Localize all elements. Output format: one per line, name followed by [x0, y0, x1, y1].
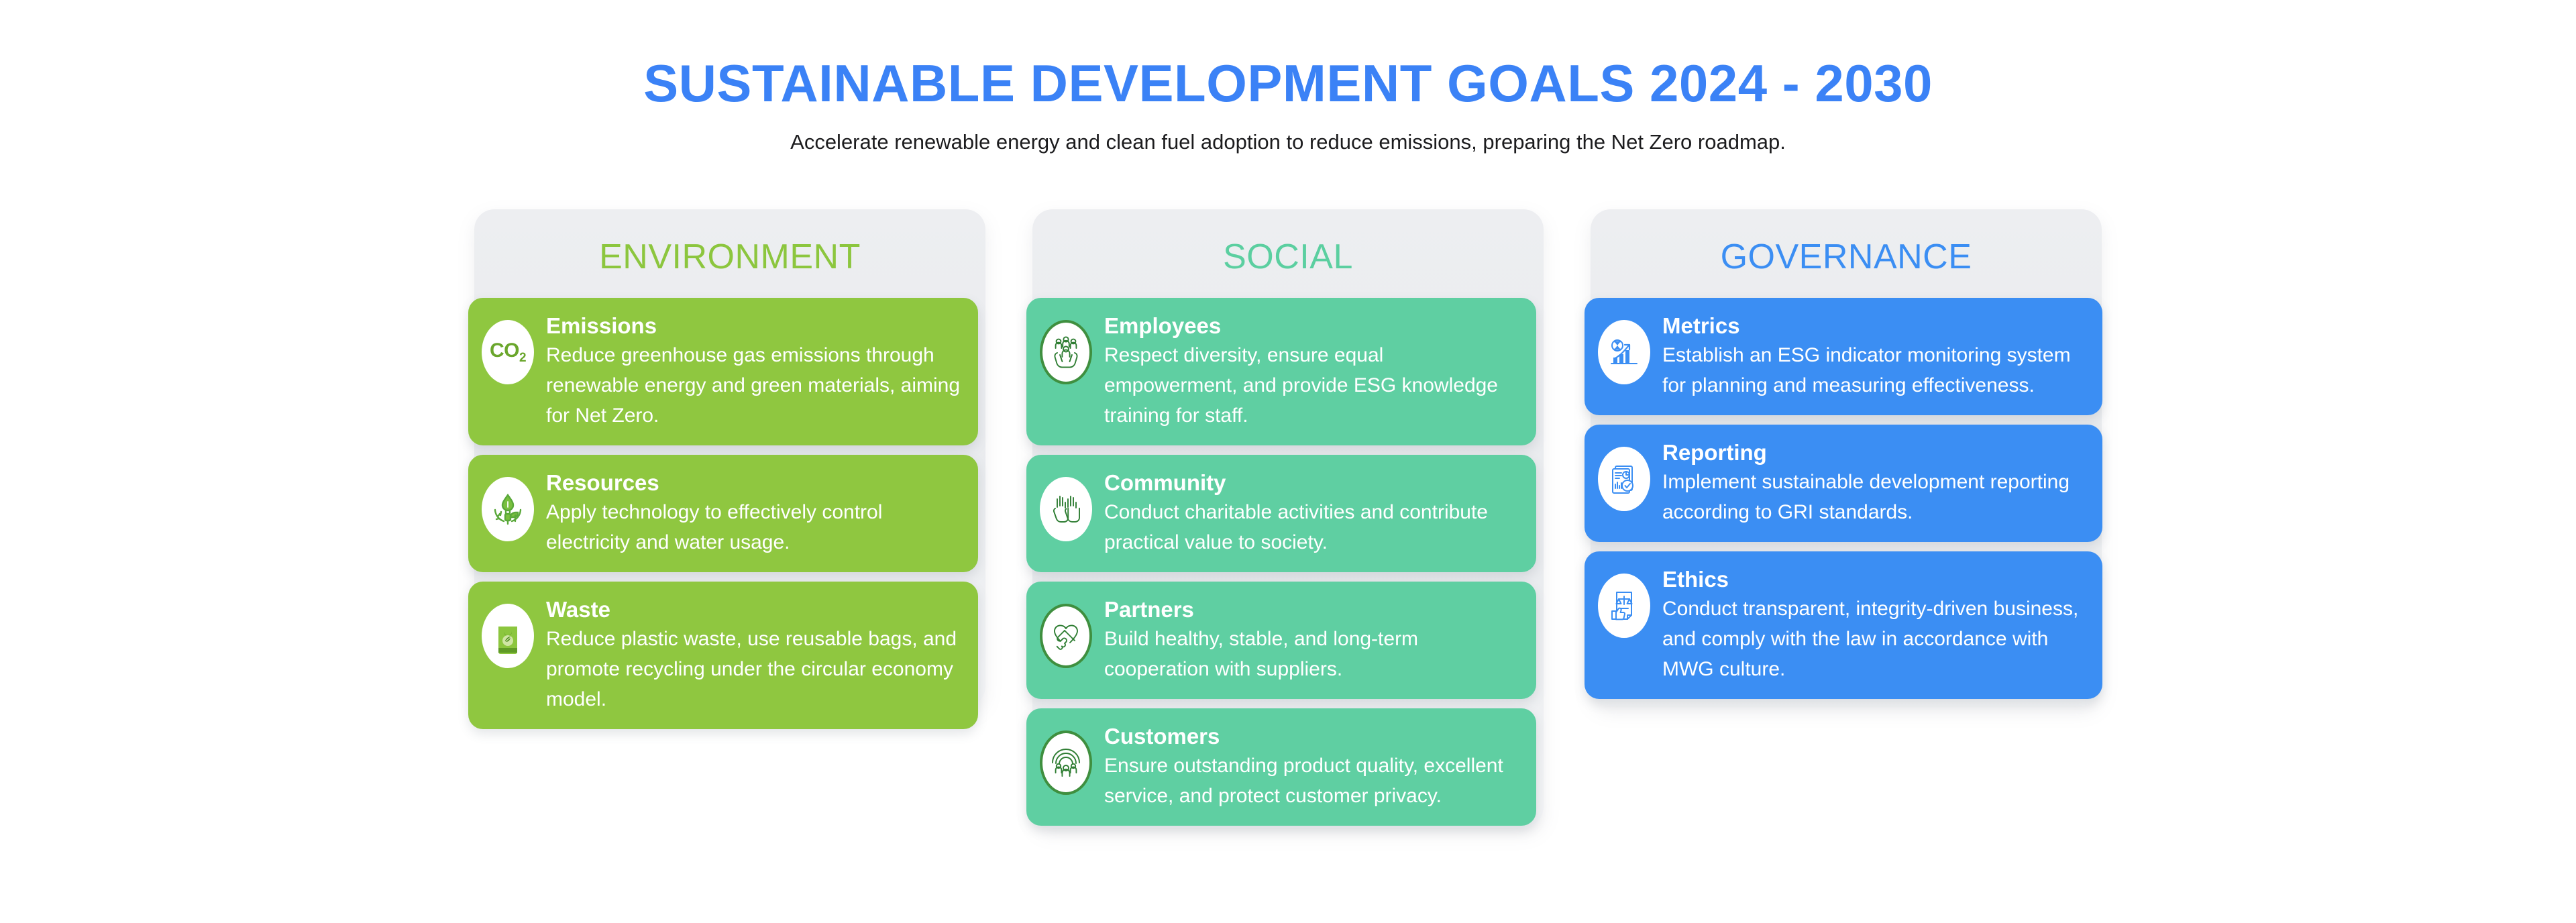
card-body: Metrics Establish an ESG indicator monit… [1662, 311, 2085, 400]
card-title: Employees [1104, 313, 1519, 339]
card-title: Partners [1104, 596, 1519, 623]
water-energy-recycle-icon [482, 477, 534, 541]
card-icon-wrap [1598, 319, 1650, 385]
card-list-governance: Metrics Establish an ESG indicator monit… [1585, 298, 2108, 699]
customer-group-icon [1040, 730, 1092, 795]
card-body: Emissions Reduce greenhouse gas emission… [546, 311, 961, 431]
card-description: Build healthy, stable, and long-term coo… [1104, 624, 1519, 684]
co2-icon: CO2 [482, 320, 534, 384]
card-body: Ethics Conduct transparent, integrity-dr… [1662, 565, 2085, 684]
card-title: Community [1104, 470, 1519, 496]
pillar-columns: ENVIRONMENT CO2 Emissions Reduce greenho… [0, 209, 2576, 826]
card-icon-wrap: CO2 [482, 319, 534, 385]
column-social: SOCIAL [1026, 209, 1550, 826]
page-subtitle: Accelerate renewable energy and clean fu… [0, 129, 2576, 156]
card-description: Implement sustainable development report… [1662, 467, 2085, 527]
card-icon-wrap [482, 603, 534, 669]
card-list-social: Employees Respect diversity, ensure equa… [1026, 298, 1550, 826]
card-description: Reduce plastic waste, use reusable bags,… [546, 624, 961, 714]
card-reporting[interactable]: Reporting Implement sustainable developm… [1585, 425, 2102, 542]
card-body: Customers Ensure outstanding product qua… [1104, 722, 1519, 811]
card-title: Ethics [1662, 566, 2085, 593]
card-description: Ensure outstanding product quality, exce… [1104, 751, 1519, 811]
card-title: Reporting [1662, 439, 2085, 466]
card-description: Conduct charitable activities and contri… [1104, 497, 1519, 557]
card-title: Resources [546, 470, 961, 496]
card-title: Customers [1104, 723, 1519, 750]
infographic-page: SUSTAINABLE DEVELOPMENT GOALS 2024 - 203… [0, 0, 2576, 923]
panel-title-governance: GOVERNANCE [1585, 209, 2108, 298]
card-description: Reduce greenhouse gas emissions through … [546, 340, 961, 431]
column-governance: GOVERNANCE [1585, 209, 2108, 699]
card-icon-wrap [1598, 573, 1650, 639]
card-waste[interactable]: Waste Reduce plastic waste, use reusable… [468, 582, 978, 729]
card-icon-wrap [482, 476, 534, 542]
card-icon-wrap [1598, 446, 1650, 512]
card-icon-wrap [1040, 730, 1092, 796]
card-description: Apply technology to effectively control … [546, 497, 961, 557]
card-resources[interactable]: Resources Apply technology to effectivel… [468, 455, 978, 572]
handshake-heart-icon [1040, 604, 1092, 668]
growth-chart-hourglass-icon [1598, 320, 1650, 384]
card-body: Employees Respect diversity, ensure equa… [1104, 311, 1519, 431]
card-icon-wrap [1040, 476, 1092, 542]
reusable-bag-icon [482, 604, 534, 668]
card-ethics[interactable]: Ethics Conduct transparent, integrity-dr… [1585, 551, 2102, 699]
panel-title-environment: ENVIRONMENT [468, 209, 991, 298]
raised-hands-icon [1040, 477, 1092, 541]
card-description: Respect diversity, ensure equal empowerm… [1104, 340, 1519, 431]
hands-people-icon [1040, 320, 1092, 384]
card-body: Partners Build healthy, stable, and long… [1104, 595, 1519, 684]
card-body: Community Conduct charitable activities … [1104, 468, 1519, 557]
card-emissions[interactable]: CO2 Emissions Reduce greenhouse gas emis… [468, 298, 978, 445]
card-community[interactable]: Community Conduct charitable activities … [1026, 455, 1536, 572]
card-title: Metrics [1662, 313, 2085, 339]
card-partners[interactable]: Partners Build healthy, stable, and long… [1026, 582, 1536, 699]
card-description: Establish an ESG indicator monitoring sy… [1662, 340, 2085, 400]
card-body: Reporting Implement sustainable developm… [1662, 438, 2085, 527]
report-document-check-icon [1598, 447, 1650, 511]
card-employees[interactable]: Employees Respect diversity, ensure equa… [1026, 298, 1536, 445]
page-title: SUSTAINABLE DEVELOPMENT GOALS 2024 - 203… [0, 52, 2576, 114]
card-metrics[interactable]: Metrics Establish an ESG indicator monit… [1585, 298, 2102, 415]
co2-icon-label: CO2 [490, 339, 526, 366]
card-title: Waste [546, 596, 961, 623]
card-icon-wrap [1040, 603, 1092, 669]
card-body: Resources Apply technology to effectivel… [546, 468, 961, 557]
card-list-environment: CO2 Emissions Reduce greenhouse gas emis… [468, 298, 991, 729]
header: SUSTAINABLE DEVELOPMENT GOALS 2024 - 203… [0, 0, 2576, 156]
card-description: Conduct transparent, integrity-driven bu… [1662, 594, 2085, 684]
column-environment: ENVIRONMENT CO2 Emissions Reduce greenho… [468, 209, 991, 729]
scales-thumbsup-icon [1598, 574, 1650, 638]
panel-title-social: SOCIAL [1026, 209, 1550, 298]
card-customers[interactable]: Customers Ensure outstanding product qua… [1026, 708, 1536, 826]
card-icon-wrap [1040, 319, 1092, 385]
card-title: Emissions [546, 313, 961, 339]
card-body: Waste Reduce plastic waste, use reusable… [546, 595, 961, 714]
